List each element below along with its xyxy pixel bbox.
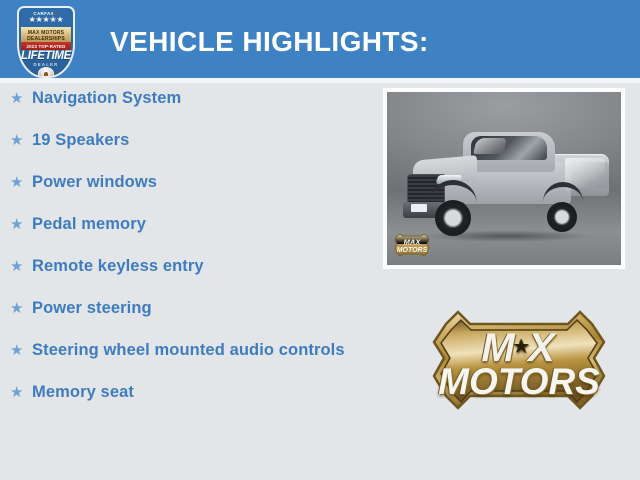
watermark-line2: MOTORS — [397, 247, 428, 254]
star-bullet-icon: ★ — [10, 88, 32, 109]
feature-label: Remote keyless entry — [32, 256, 370, 277]
watermark-line1: MAX — [404, 238, 422, 247]
vehicle-highlights-slide: CARFAX► ★★★★★ MAX MOTORS DEALERSHIPS 202… — [0, 0, 640, 480]
feature-label: 19 Speakers — [32, 130, 370, 151]
star-bullet-icon: ★ — [10, 340, 32, 361]
star-bullet-icon: ★ — [10, 256, 32, 277]
badge-emblem-icon — [38, 67, 54, 78]
star-bullet-icon: ★ — [10, 130, 32, 151]
vehicle-photo-frame[interactable]: MAX MOTORS — [383, 88, 625, 269]
badge-lifetime-label: LIFETIME — [19, 50, 73, 62]
truck-illustration — [397, 118, 615, 238]
badge-ribbon: 2023 TOP-RATED — [21, 42, 71, 50]
max-motors-logo[interactable]: M★X MOTORS — [424, 308, 614, 426]
badge-dealer-name-line2: DEALERSHIPS — [27, 36, 65, 42]
carfax-lifetime-dealer-badge: CARFAX► ★★★★★ MAX MOTORS DEALERSHIPS 202… — [17, 6, 75, 78]
list-item: ★ Remote keyless entry — [0, 256, 370, 278]
list-item: ★ Pedal memory — [0, 214, 370, 236]
list-item: ★ Navigation System — [0, 88, 370, 110]
feature-label: Power steering — [32, 298, 370, 319]
badge-ribbon-text: 2023 TOP-RATED — [27, 44, 66, 49]
list-item: ★ Power windows — [0, 172, 370, 194]
feature-label: Power windows — [32, 172, 370, 193]
header-divider — [0, 78, 640, 83]
feature-label: Pedal memory — [32, 214, 370, 235]
star-bullet-icon: ★ — [10, 382, 32, 403]
feature-label: Steering wheel mounted audio controls — [32, 340, 370, 361]
list-item: ★ 19 Speakers — [0, 130, 370, 152]
page-title: VEHICLE HIGHLIGHTS: — [110, 26, 429, 58]
star-bullet-icon: ★ — [10, 172, 32, 193]
vehicle-highlights-list: ★ Navigation System ★ 19 Speakers ★ Powe… — [0, 88, 370, 424]
photo-watermark-logo: MAX MOTORS — [393, 233, 431, 259]
truck-windshield-glare — [473, 138, 506, 154]
list-item: ★ Steering wheel mounted audio controls — [0, 340, 370, 362]
truck-rear-wheel — [547, 202, 577, 232]
badge-shield: CARFAX► ★★★★★ MAX MOTORS DEALERSHIPS 202… — [17, 6, 75, 78]
feature-label: Memory seat — [32, 382, 370, 403]
star-bullet-icon: ★ — [10, 298, 32, 319]
truck-front-wheel — [435, 200, 471, 236]
list-item: ★ Memory seat — [0, 382, 370, 404]
badge-stars: ★★★★★ — [19, 16, 73, 24]
feature-label: Navigation System — [32, 88, 370, 109]
truck-license-plate — [411, 204, 427, 212]
star-bullet-icon: ★ — [10, 214, 32, 235]
logo-badge-shape — [424, 308, 614, 426]
list-item: ★ Power steering — [0, 298, 370, 320]
vehicle-photo[interactable]: MAX MOTORS — [387, 92, 621, 265]
